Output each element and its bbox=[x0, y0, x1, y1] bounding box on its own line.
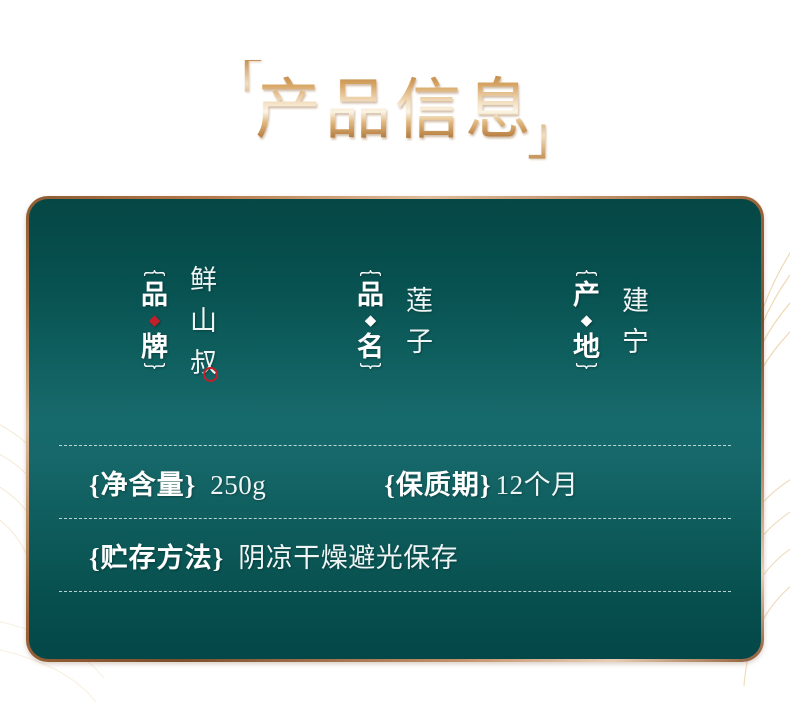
field-brand-label-char-2: 牌 bbox=[141, 333, 168, 361]
row-net-weight-shelf-life: {净含量} 250g {保质期} 12个月 bbox=[59, 445, 731, 519]
field-storage-value: 阴凉干燥避光保存 bbox=[238, 536, 458, 575]
field-product-name-label: ︷ 品 ◆ 名 ︸ bbox=[357, 261, 384, 384]
diamond-icon: ◆ bbox=[581, 314, 593, 329]
field-origin-label-char-2: 地 bbox=[573, 333, 600, 361]
field-shelf-life-label: {保质期} bbox=[384, 463, 491, 502]
field-origin-value: 建 宁 bbox=[622, 281, 649, 363]
bottom-divider bbox=[59, 591, 731, 592]
field-origin: ︷ 产 ◆ 地 ︸ 建 宁 bbox=[573, 261, 649, 384]
registered-trademark-icon bbox=[203, 367, 218, 382]
field-shelf-life-value: 12个月 bbox=[496, 463, 579, 502]
title-close-bracket: 」 bbox=[527, 112, 579, 164]
field-product-name-label-char-2: 名 bbox=[357, 333, 384, 361]
diamond-icon: ◆ bbox=[365, 314, 377, 329]
field-storage-label: {贮存方法} bbox=[89, 536, 224, 575]
field-brand-value-char-3: 叔 bbox=[190, 343, 217, 384]
field-origin-label-char-1: 产 bbox=[573, 281, 600, 309]
field-net-weight: {净含量} 250g bbox=[89, 463, 266, 502]
product-info-card: ︷ 品 ◆ 牌 ︸ 鲜 山 叔 ︷ 品 ◆ 名 bbox=[26, 196, 764, 662]
brace-bottom-icon: ︸ bbox=[143, 369, 165, 383]
vertical-fields-row: ︷ 品 ◆ 牌 ︸ 鲜 山 叔 ︷ 品 ◆ 名 bbox=[29, 199, 761, 445]
brace-bottom-icon: ︸ bbox=[359, 369, 381, 383]
brace-top-icon: ︷ bbox=[359, 261, 381, 275]
diamond-icon: ◆ bbox=[149, 314, 161, 329]
field-brand-value-char-1: 鲜 bbox=[190, 260, 217, 301]
field-product-name-value-char-1: 莲 bbox=[406, 281, 433, 322]
card-face: ︷ 品 ◆ 牌 ︸ 鲜 山 叔 ︷ 品 ◆ 名 bbox=[29, 199, 761, 659]
field-brand-label-char-1: 品 bbox=[141, 281, 168, 309]
field-product-name: ︷ 品 ◆ 名 ︸ 莲 子 bbox=[357, 261, 433, 384]
brace-top-icon: ︷ bbox=[575, 261, 597, 275]
field-brand: ︷ 品 ◆ 牌 ︸ 鲜 山 叔 bbox=[141, 260, 217, 383]
row-storage: {贮存方法} 阴凉干燥避光保存 bbox=[59, 518, 731, 592]
title-text: 产品信息 bbox=[255, 74, 535, 147]
field-shelf-life: {保质期} 12个月 bbox=[384, 463, 578, 502]
field-brand-value-char-2: 山 bbox=[190, 301, 217, 342]
page-title: 「 产品信息 」 bbox=[0, 48, 790, 173]
field-origin-value-char-2: 宁 bbox=[622, 322, 649, 363]
brace-top-icon: ︷ bbox=[143, 261, 165, 275]
brace-bottom-icon: ︸ bbox=[575, 369, 597, 383]
field-origin-label: ︷ 产 ◆ 地 ︸ bbox=[573, 261, 600, 384]
field-net-weight-value: 250g bbox=[210, 470, 266, 501]
field-product-name-label-char-1: 品 bbox=[357, 281, 384, 309]
field-brand-value: 鲜 山 叔 bbox=[190, 260, 217, 383]
field-brand-label: ︷ 品 ◆ 牌 ︸ bbox=[141, 261, 168, 384]
field-net-weight-label: {净含量} bbox=[89, 463, 196, 502]
field-product-name-value: 莲 子 bbox=[406, 281, 433, 363]
field-product-name-value-char-2: 子 bbox=[406, 322, 433, 363]
field-origin-value-char-1: 建 bbox=[622, 281, 649, 322]
field-storage: {贮存方法} 阴凉干燥避光保存 bbox=[89, 536, 458, 575]
